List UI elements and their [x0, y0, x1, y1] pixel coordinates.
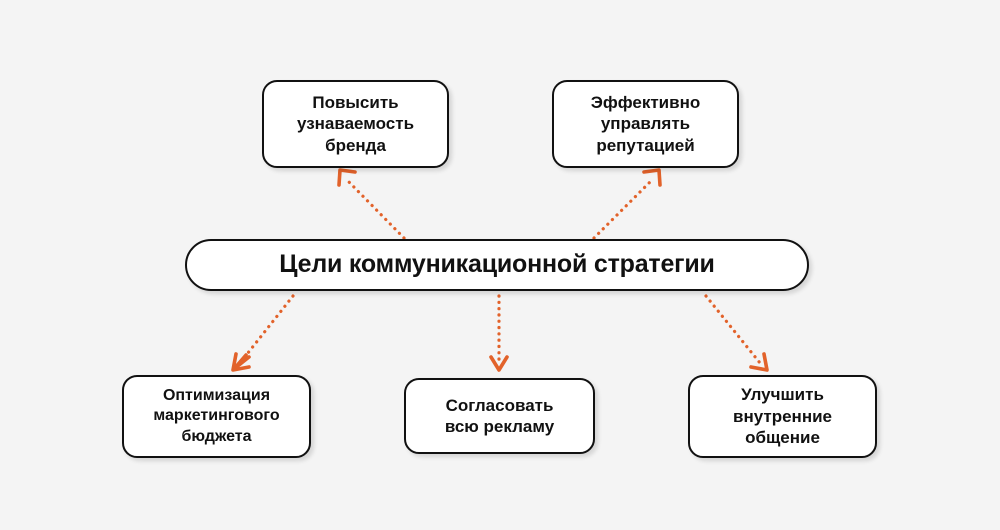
node-marketing-budget-label: Оптимизация маркетингового бюджета	[153, 386, 279, 446]
connector-center-to-ads	[491, 296, 507, 370]
connector-center-to-brand-awareness	[339, 170, 404, 238]
node-advertising-alignment[interactable]: Согласовать всю рекламу	[404, 378, 595, 454]
node-marketing-budget[interactable]: Оптимизация маркетингового бюджета	[122, 375, 311, 458]
diagram-canvas: Цели коммуникационной стратегии Повысить…	[0, 0, 1000, 530]
central-node-goals[interactable]: Цели коммуникационной стратегии	[185, 239, 809, 291]
node-internal-communication-label: Улучшить внутренние общение	[733, 384, 832, 448]
node-advertising-alignment-label: Согласовать всю рекламу	[445, 395, 554, 438]
connector-center-to-internal	[706, 296, 767, 370]
node-reputation[interactable]: Эффективно управлять репутацией	[552, 80, 739, 168]
node-brand-awareness-label: Повысить узнаваемость бренда	[297, 92, 414, 156]
connector-center-to-reputation	[594, 170, 660, 238]
central-node-label: Цели коммуникационной стратегии	[279, 249, 714, 281]
node-reputation-label: Эффективно управлять репутацией	[591, 92, 700, 156]
node-brand-awareness[interactable]: Повысить узнаваемость бренда	[262, 80, 449, 168]
connector-center-to-budget	[233, 296, 293, 370]
node-internal-communication[interactable]: Улучшить внутренние общение	[688, 375, 877, 458]
